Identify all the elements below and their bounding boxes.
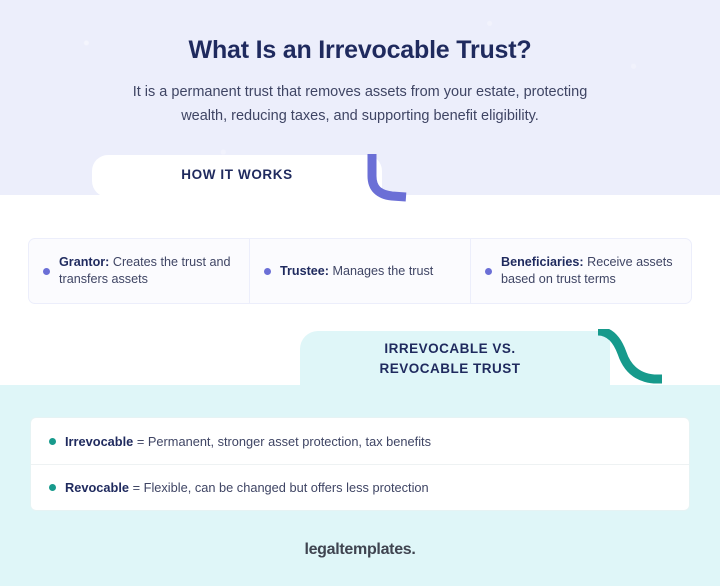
comparison-description: = Flexible, can be changed but offers le… xyxy=(133,480,429,495)
comparison-text: Revocable = Flexible, can be changed but… xyxy=(65,480,429,495)
tab-comparison-label: IRREVOCABLE VS. REVOCABLE TRUST xyxy=(300,339,600,379)
page-title: What Is an Irrevocable Trust? xyxy=(0,36,720,65)
bullet-dot-icon xyxy=(49,438,56,445)
role-item-grantor: Grantor: Creates the trust and transfers… xyxy=(29,239,249,303)
bullet-dot-icon xyxy=(49,484,56,491)
comparison-description: = Permanent, stronger asset protection, … xyxy=(137,434,431,449)
teal-swoosh-icon xyxy=(592,329,664,387)
bullet-dot-icon xyxy=(264,268,271,275)
page-subtitle: It is a permanent trust that removes ass… xyxy=(110,80,610,128)
tab-comparison-label-line2: REVOCABLE TRUST xyxy=(379,361,520,376)
bullet-dot-icon xyxy=(43,268,50,275)
role-item-trustee: Trustee: Manages the trust xyxy=(249,239,470,303)
comparison-row-revocable: Revocable = Flexible, can be changed but… xyxy=(31,464,689,510)
infographic-root: What Is an Irrevocable Trust? It is a pe… xyxy=(0,0,720,586)
role-item-beneficiaries: Beneficiaries: Receive assets based on t… xyxy=(470,239,691,303)
footer-logo: legaltemplates. xyxy=(0,541,720,559)
role-term: Trustee: xyxy=(280,264,329,278)
purple-swoosh-icon xyxy=(362,150,412,202)
tab-how-it-works: HOW IT WORKS xyxy=(92,155,382,197)
role-term: Grantor: xyxy=(59,255,109,269)
comparison-term: Irrevocable xyxy=(65,434,133,449)
bullet-dot-icon xyxy=(485,268,492,275)
role-text: Beneficiaries: Receive assets based on t… xyxy=(501,254,677,288)
tab-comparison-label-line1: IRREVOCABLE VS. xyxy=(384,341,515,356)
comparison-text: Irrevocable = Permanent, stronger asset … xyxy=(65,434,431,449)
comparison-row-irrevocable: Irrevocable = Permanent, stronger asset … xyxy=(31,418,689,464)
tab-how-it-works-label: HOW IT WORKS xyxy=(92,167,382,182)
comparison-card: Irrevocable = Permanent, stronger asset … xyxy=(30,417,690,511)
role-term: Beneficiaries: xyxy=(501,255,584,269)
tab-comparison: IRREVOCABLE VS. REVOCABLE TRUST xyxy=(300,331,610,385)
role-text: Trustee: Manages the trust xyxy=(280,263,433,280)
role-description: Manages the trust xyxy=(333,264,434,278)
roles-card: Grantor: Creates the trust and transfers… xyxy=(28,238,692,304)
role-text: Grantor: Creates the trust and transfers… xyxy=(59,254,235,288)
comparison-term: Revocable xyxy=(65,480,129,495)
